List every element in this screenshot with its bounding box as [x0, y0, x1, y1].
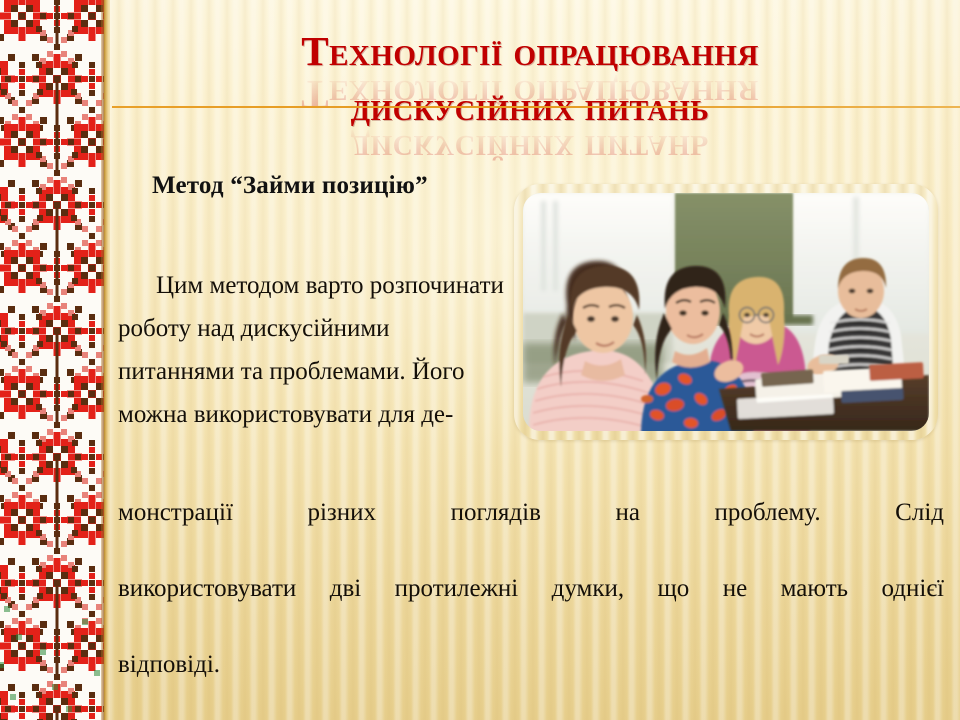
- title-line-2-wrapper: дискусійних питань дискусійних питань: [112, 84, 948, 136]
- body-line-3: відповіді.: [118, 651, 220, 678]
- title-line-1-wrapper: Технології опрацювання Технології опрацю…: [112, 28, 948, 82]
- body-line-2: використовувати дві протилежні думки, що…: [118, 570, 944, 646]
- body-line-1: монстрації різних поглядів на проблему. …: [118, 494, 944, 570]
- body-paragraph-wrapped: Цим методом варто розпочинати роботу над…: [118, 264, 510, 436]
- classroom-photo-image: [523, 193, 929, 431]
- slide-title: Технології опрацювання Технології опрацю…: [112, 28, 948, 136]
- ukrainian-cross-stitch-pattern: [0, 0, 104, 720]
- method-heading: Метод “Займи позицію”: [152, 172, 428, 200]
- title-line-1: Технології опрацювання: [112, 28, 948, 74]
- presentation-slide: Технології опрацювання Технології опрацю…: [0, 0, 960, 720]
- title-divider-rule: [112, 106, 960, 108]
- classroom-photo: [523, 193, 929, 431]
- embroidery-border: [0, 0, 104, 720]
- body-paragraph-full-width: монстрації різних поглядів на проблему. …: [118, 494, 944, 684]
- photo-frame: [514, 184, 938, 440]
- border-gold-edge: [104, 0, 110, 720]
